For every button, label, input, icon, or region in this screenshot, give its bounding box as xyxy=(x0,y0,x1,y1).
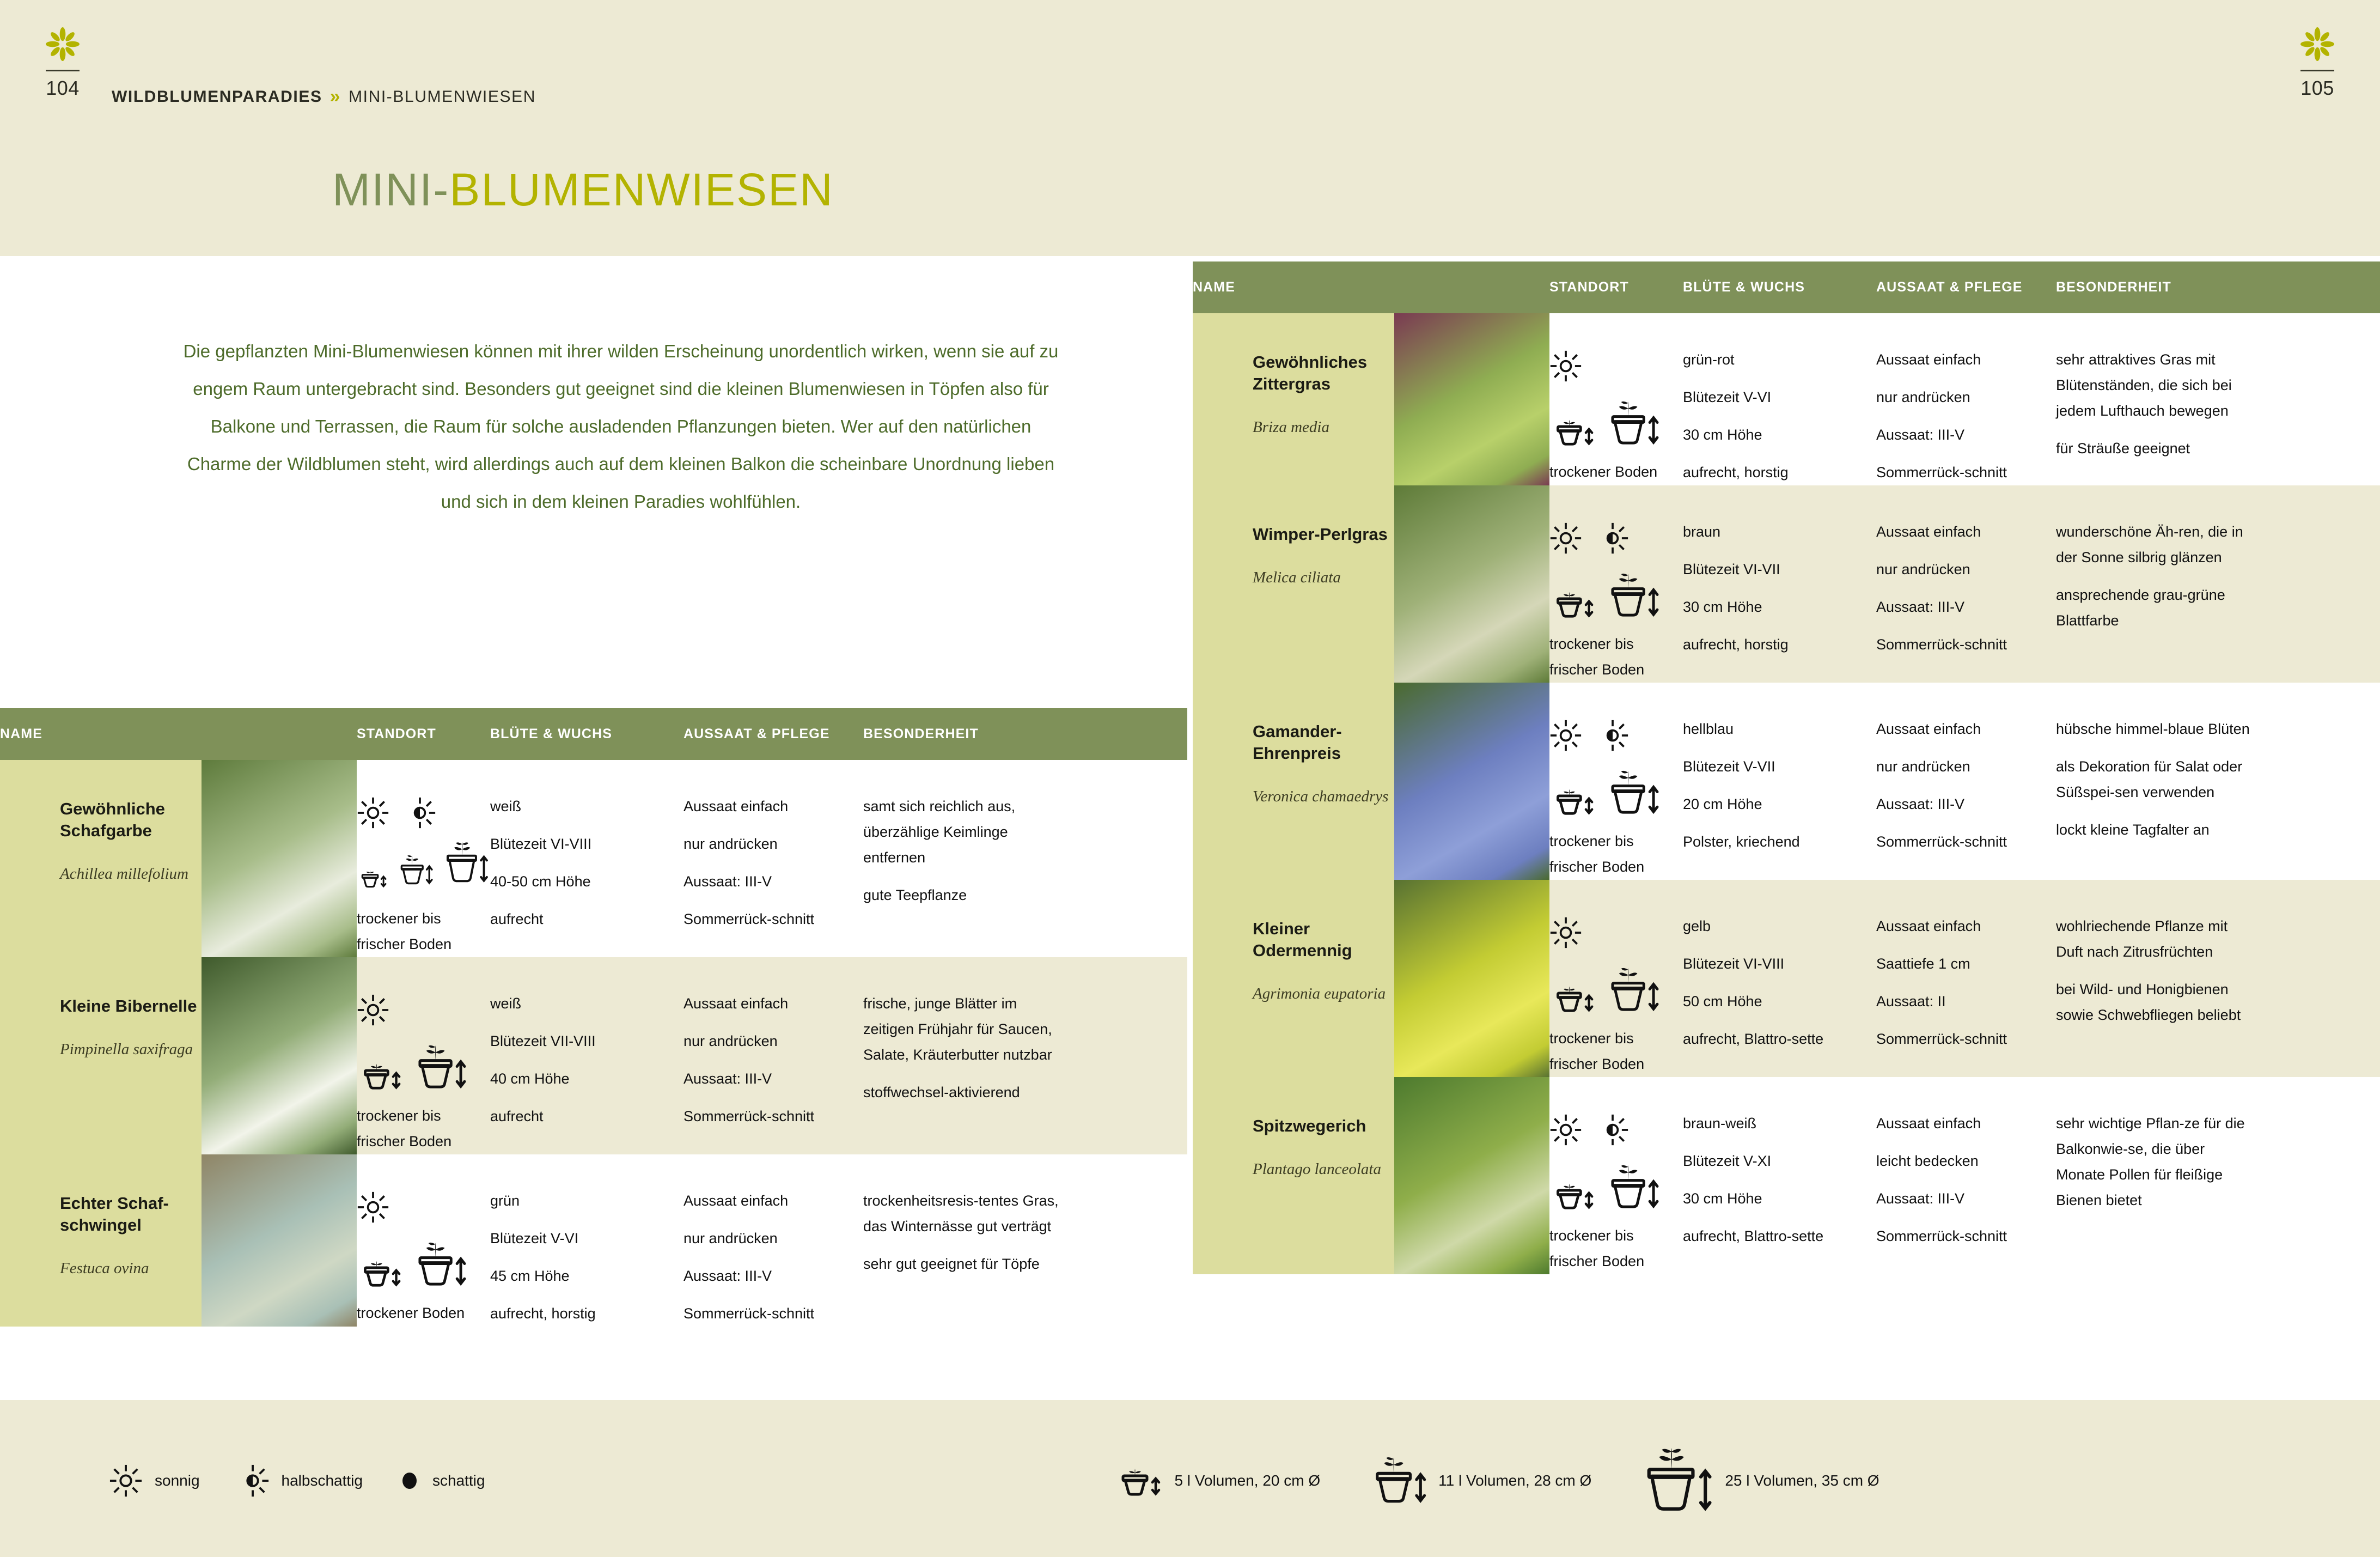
pot-medium-icon xyxy=(1605,572,1661,619)
page-title: MINI-BLUMENWIESEN xyxy=(332,163,834,216)
sun-full-icon xyxy=(357,994,389,1026)
pot-size-icons xyxy=(1549,567,1683,619)
legend-label: halbschattig xyxy=(282,1472,363,1489)
aussaat-line: nur andrücken xyxy=(684,1029,863,1054)
page-title-part1: MINI- xyxy=(332,164,449,215)
bluete-line: 30 cm Höhe xyxy=(1683,594,1876,620)
besonderheit-line: bei Wild- und Honigbienen sowie Schwebfl… xyxy=(2056,977,2252,1028)
soil-text: trockener Boden xyxy=(1549,459,1683,485)
pot-large-icon xyxy=(1640,1448,1715,1513)
page-corner-left: 104 xyxy=(30,27,95,100)
bluete-line: grün-rot xyxy=(1683,347,1876,373)
legend-pot-label: 5 l Volumen, 20 cm Ø xyxy=(1174,1472,1320,1489)
legend-pot-group: 5 l Volumen, 20 cm Ø 11 l Volumen, 28 cm… xyxy=(1114,1448,1928,1513)
light-icons xyxy=(1549,1111,1683,1149)
content-sheet: Die gepflanzten Mini-Blumenwiesen können… xyxy=(0,256,2380,1400)
bluete-line: grün xyxy=(490,1188,684,1214)
besonderheit-line: gute Teepflanze xyxy=(863,883,1059,908)
legend-pot-label: 25 l Volumen, 35 cm Ø xyxy=(1725,1472,1879,1489)
pot-size-icons xyxy=(1549,962,1683,1014)
bluete-line: 50 cm Höhe xyxy=(1683,989,1876,1014)
light-icons xyxy=(357,1188,490,1226)
aussaat-line: Aussaat einfach xyxy=(1876,347,2056,373)
plant-photo xyxy=(202,760,357,957)
aussaat-line: Aussaat: II xyxy=(1876,989,2056,1014)
page-number-left: 104 xyxy=(30,77,95,100)
pot-small-icon xyxy=(357,1059,405,1091)
standort-cell: trockener Boden xyxy=(1549,313,1683,485)
bluete-line: Blütezeit VI-VIII xyxy=(1683,951,1876,977)
bluete-line: Blütezeit VI-VIII xyxy=(490,831,684,857)
legend-pot-item: 5 l Volumen, 20 cm Ø xyxy=(1114,1464,1320,1498)
aussaat-line: Aussaat: III-V xyxy=(1876,594,2056,620)
chevron-right-icon: » xyxy=(330,86,341,107)
standort-cell: trockener bis frischer Boden xyxy=(357,760,490,957)
page-title-part2: BLUMENWIESEN xyxy=(449,164,833,215)
plant-name-latin: Festuca ovina xyxy=(60,1258,202,1279)
pot-large-icon xyxy=(442,832,490,894)
bluete-cell: grünBlütezeit V-VI45 cm Höheaufrecht, ho… xyxy=(490,1154,684,1327)
soil-text: trockener Boden xyxy=(357,1300,490,1326)
corner-rule xyxy=(46,70,80,71)
plant-name-cell: Echter Schaf-schwingel Festuca ovina xyxy=(0,1154,357,1327)
pot-medium-icon xyxy=(1369,1456,1429,1506)
bluete-line: weiß xyxy=(490,991,684,1017)
table-row: Gewöhnliches Zittergras Briza media xyxy=(1193,313,2380,485)
soil-text: trockener bis frischer Boden xyxy=(1549,1026,1683,1077)
pot-size-icons xyxy=(357,1236,490,1288)
column-header-bluete: BLÜTE & WUCHS xyxy=(1683,279,1876,295)
plant-name-block: Gamander-Ehrenpreis Veronica chamaedrys xyxy=(1193,683,1394,880)
besonderheit-cell: samt sich reichlich aus, überzählige Kei… xyxy=(863,760,1081,957)
legend-pot-item: 25 l Volumen, 35 cm Ø xyxy=(1640,1448,1879,1513)
aussaat-line: Aussaat: III-V xyxy=(1876,792,2056,817)
aussaat-line: nur andrücken xyxy=(684,831,863,857)
aussaat-line: nur andrücken xyxy=(1876,557,2056,582)
light-icons xyxy=(1549,347,1683,385)
bluete-line: aufrecht, horstig xyxy=(490,1301,684,1327)
aussaat-cell: Aussaat einfachnur andrückenAussaat: III… xyxy=(1876,485,2056,683)
sun-full-icon xyxy=(1549,350,1582,382)
plant-photo xyxy=(202,1154,357,1327)
plant-name-german: Gamander-Ehrenpreis xyxy=(1253,721,1394,764)
aussaat-line: nur andrücken xyxy=(1876,754,2056,780)
plant-photo xyxy=(1394,313,1549,485)
bluete-line: 30 cm Höhe xyxy=(1683,422,1876,448)
soil-text: trockener bis frischer Boden xyxy=(357,906,490,957)
soil-text: trockener bis frischer Boden xyxy=(1549,829,1683,880)
pot-medium-icon xyxy=(396,847,435,894)
table-row: Echter Schaf-schwingel Festuca ovina xyxy=(0,1154,1187,1327)
table-row: Gewöhnliche Schafgarbe Achillea millefol… xyxy=(0,760,1187,957)
pot-size-icons xyxy=(1549,1159,1683,1211)
aussaat-line: Sommerrück-schnitt xyxy=(684,907,863,932)
aussaat-line: nur andrücken xyxy=(684,1226,863,1251)
legend-item: halbschattig xyxy=(236,1464,363,1498)
pot-medium-icon xyxy=(412,1241,468,1288)
plant-photo xyxy=(1394,683,1549,880)
aussaat-line: leicht bedecken xyxy=(1876,1148,2056,1174)
light-icons xyxy=(1549,914,1683,952)
pot-small-icon xyxy=(1549,587,1597,619)
plant-name-german: Kleine Bibernelle xyxy=(60,995,202,1017)
breadcrumb-section: MINI-BLUMENWIESEN xyxy=(349,88,536,106)
column-header-besonderheit: BESONDERHEIT xyxy=(863,726,1081,742)
column-header-name: NAME xyxy=(0,726,357,742)
plant-name-latin: Plantago lanceolata xyxy=(1253,1159,1394,1179)
flower-logo-icon xyxy=(46,27,80,61)
plant-name-cell: Wimper-Perlgras Melica ciliata xyxy=(1193,485,1549,683)
page-corner-right: 105 xyxy=(2285,27,2350,100)
soil-text: trockener bis frischer Boden xyxy=(1549,631,1683,683)
bluete-line: Blütezeit V-VII xyxy=(1683,754,1876,780)
pot-small-icon xyxy=(1114,1464,1164,1498)
aussaat-line: Aussaat: III-V xyxy=(684,869,863,895)
pot-small-icon xyxy=(357,1256,405,1288)
bluete-cell: braun-weißBlütezeit V-XI30 cm Höheaufrec… xyxy=(1683,1077,1876,1274)
plant-name-latin: Melica ciliata xyxy=(1253,567,1394,588)
bluete-line: Blütezeit V-VI xyxy=(490,1226,684,1251)
bluete-line: Polster, kriechend xyxy=(1683,829,1876,855)
bluete-line: braun xyxy=(1683,519,1876,545)
breadcrumb-chapter: WILDBLUMENPARADIES xyxy=(112,88,322,106)
aussaat-line: Sommerrück-schnitt xyxy=(1876,1026,2056,1052)
aussaat-line: Saattiefe 1 cm xyxy=(1876,951,2056,977)
plant-name-block: Kleiner Odermennig Agrimonia eupatoria xyxy=(1193,880,1394,1077)
light-icons xyxy=(1549,716,1683,755)
sun-full-icon xyxy=(357,1191,389,1224)
legend-pot-item: 11 l Volumen, 28 cm Ø xyxy=(1369,1456,1591,1506)
plant-name-cell: Gewöhnliches Zittergras Briza media xyxy=(1193,313,1549,485)
plant-name-german: Kleiner Odermennig xyxy=(1253,918,1394,962)
plant-name-cell: Spitzwegerich Plantago lanceolata xyxy=(1193,1077,1549,1274)
aussaat-line: nur andrücken xyxy=(1876,385,2056,410)
bluete-line: aufrecht, horstig xyxy=(1683,632,1876,658)
bluete-line: gelb xyxy=(1683,914,1876,939)
plant-name-cell: Kleine Bibernelle Pimpinella saxifraga xyxy=(0,957,357,1154)
legend-pot-label: 11 l Volumen, 28 cm Ø xyxy=(1438,1472,1591,1489)
aussaat-line: Sommerrück-schnitt xyxy=(684,1104,863,1129)
plant-photo xyxy=(1394,485,1549,683)
pot-small-icon xyxy=(1549,415,1597,447)
sun-full-icon xyxy=(1549,1114,1582,1146)
besonderheit-line: als Dekoration für Salat oder Süßspei-se… xyxy=(2056,754,2252,805)
besonderheit-line: sehr wichtige Pflan-ze für die Balkonwie… xyxy=(2056,1111,2252,1213)
besonderheit-cell: wunderschöne Äh-ren, die in der Sonne si… xyxy=(2056,485,2274,683)
pot-medium-icon xyxy=(1605,400,1661,447)
sun-half-icon xyxy=(1596,522,1629,555)
plant-name-block: Gewöhnliche Schafgarbe Achillea millefol… xyxy=(0,760,202,957)
legend-item: schattig xyxy=(399,1470,485,1492)
light-icons xyxy=(357,991,490,1029)
plant-name-block: Kleine Bibernelle Pimpinella saxifraga xyxy=(0,957,202,1154)
bluete-line: Blütezeit VI-VII xyxy=(1683,557,1876,582)
sun-half-icon xyxy=(236,1464,270,1498)
bluete-line: braun-weiß xyxy=(1683,1111,1876,1136)
column-header-standort: STANDORT xyxy=(1549,279,1683,295)
standort-cell: trockener bis frischer Boden xyxy=(357,957,490,1154)
aussaat-cell: Aussaat einfachSaattiefe 1 cmAussaat: II… xyxy=(1876,880,2056,1077)
besonderheit-line: stoffwechsel-aktivierend xyxy=(863,1080,1059,1105)
plant-name-cell: Kleiner Odermennig Agrimonia eupatoria xyxy=(1193,880,1549,1077)
page-header-band: 104 105 WILDBLUMENPARADIES » MINI-BLUMEN… xyxy=(0,0,2380,256)
plant-table-left: NAME STANDORT BLÜTE & WUCHS AUSSAAT & PF… xyxy=(0,708,1187,1327)
legend-label: sonnig xyxy=(155,1472,200,1489)
pot-medium-icon xyxy=(412,1044,468,1091)
besonderheit-line: frische, junge Blätter im zeitigen Frühj… xyxy=(863,991,1059,1068)
besonderheit-line: lockt kleine Tagfalter an xyxy=(2056,817,2252,843)
besonderheit-line: für Sträuße geeignet xyxy=(2056,436,2252,461)
pot-small-icon xyxy=(357,862,389,894)
aussaat-cell: Aussaat einfachnur andrückenAussaat: III… xyxy=(1876,313,2056,485)
plant-table-right: NAME STANDORT BLÜTE & WUCHS AUSSAAT & PF… xyxy=(1193,261,2380,1274)
standort-cell: trockener bis frischer Boden xyxy=(1549,485,1683,683)
plant-name-cell: Gewöhnliche Schafgarbe Achillea millefol… xyxy=(0,760,357,957)
aussaat-line: Sommerrück-schnitt xyxy=(1876,829,2056,855)
table-header-row: NAME STANDORT BLÜTE & WUCHS AUSSAAT & PF… xyxy=(0,708,1187,760)
pot-size-icons xyxy=(357,1039,490,1091)
pot-size-icons xyxy=(357,842,490,894)
plant-name-german: Gewöhnliche Schafgarbe xyxy=(60,798,202,842)
bluete-cell: braunBlütezeit VI-VII30 cm Höheaufrecht,… xyxy=(1683,485,1876,683)
bluete-cell: weißBlütezeit VII-VIII40 cm Höheaufrecht xyxy=(490,957,684,1154)
standort-cell: trockener bis frischer Boden xyxy=(1549,880,1683,1077)
plant-name-cell: Gamander-Ehrenpreis Veronica chamaedrys xyxy=(1193,683,1549,880)
standort-cell: trockener bis frischer Boden xyxy=(1549,683,1683,880)
besonderheit-line: sehr attraktives Gras mit Blütenständen,… xyxy=(2056,347,2252,424)
standort-cell: trockener Boden xyxy=(357,1154,490,1327)
pot-size-icons xyxy=(1549,764,1683,817)
besonderheit-cell: hübsche himmel-blaue Blütenals Dekoratio… xyxy=(2056,683,2274,880)
bluete-line: Blütezeit V-VI xyxy=(1683,385,1876,410)
shade-dot-icon xyxy=(399,1470,420,1492)
bluete-line: 30 cm Höhe xyxy=(1683,1186,1876,1212)
sun-full-icon xyxy=(1549,522,1582,555)
plant-name-block: Echter Schaf-schwingel Festuca ovina xyxy=(0,1154,202,1327)
besonderheit-line: trockenheitsresis-tentes Gras, das Winte… xyxy=(863,1188,1059,1239)
bluete-line: Blütezeit V-XI xyxy=(1683,1148,1876,1174)
column-header-aussaat: AUSSAAT & PFLEGE xyxy=(1876,279,2056,295)
plant-name-latin: Achillea millefolium xyxy=(60,863,202,884)
bluete-cell: gelbBlütezeit VI-VIII50 cm Höheaufrecht,… xyxy=(1683,880,1876,1077)
legend-band: sonnig halbschattig schattig xyxy=(0,1400,2380,1557)
sun-full-icon xyxy=(1549,916,1582,949)
besonderheit-cell: trockenheitsresis-tentes Gras, das Winte… xyxy=(863,1154,1081,1327)
besonderheit-line: sehr gut geeignet für Töpfe xyxy=(863,1251,1059,1277)
bluete-line: hellblau xyxy=(1683,716,1876,742)
plant-photo xyxy=(202,957,357,1154)
light-icons xyxy=(1549,519,1683,557)
legend-label: schattig xyxy=(432,1472,485,1489)
corner-rule xyxy=(2300,70,2334,71)
sun-full-icon xyxy=(357,796,389,829)
aussaat-line: Sommerrück-schnitt xyxy=(1876,460,2056,485)
aussaat-cell: Aussaat einfachleicht bedeckenAussaat: I… xyxy=(1876,1077,2056,1274)
flower-logo-icon xyxy=(2300,27,2334,61)
aussaat-line: Aussaat einfach xyxy=(1876,716,2056,742)
plant-name-german: Wimper-Perlgras xyxy=(1253,524,1394,545)
sun-full-icon xyxy=(1549,719,1582,752)
pot-medium-icon xyxy=(1605,769,1661,817)
bluete-line: aufrecht xyxy=(490,1104,684,1129)
pot-size-icons xyxy=(1549,395,1683,447)
table-header-row: NAME STANDORT BLÜTE & WUCHS AUSSAAT & PF… xyxy=(1193,261,2380,313)
besonderheit-cell: sehr wichtige Pflan-ze für die Balkonwie… xyxy=(2056,1077,2274,1274)
bluete-line: Blütezeit VII-VIII xyxy=(490,1029,684,1054)
besonderheit-cell: sehr attraktives Gras mit Blütenständen,… xyxy=(2056,313,2274,485)
bluete-line: aufrecht, Blattro-sette xyxy=(1683,1224,1876,1249)
aussaat-line: Aussaat: III-V xyxy=(1876,422,2056,448)
besonderheit-line: ansprechende grau-grüne Blattfarbe xyxy=(2056,582,2252,634)
plant-name-latin: Pimpinella saxifraga xyxy=(60,1039,202,1060)
breadcrumb: WILDBLUMENPARADIES » MINI-BLUMENWIESEN xyxy=(112,86,536,107)
table-row: Kleine Bibernelle Pimpinella saxifraga xyxy=(0,957,1187,1154)
column-header-standort: STANDORT xyxy=(357,726,490,742)
plant-name-latin: Briza media xyxy=(1253,417,1394,437)
table-row: Gamander-Ehrenpreis Veronica chamaedrys xyxy=(1193,683,2380,880)
bluete-cell: weißBlütezeit VI-VIII40-50 cm Höheaufrec… xyxy=(490,760,684,957)
aussaat-line: Aussaat einfach xyxy=(1876,1111,2056,1136)
page-number-right: 105 xyxy=(2285,77,2350,100)
legend-item: sonnig xyxy=(109,1464,200,1498)
plant-name-german: Echter Schaf-schwingel xyxy=(60,1193,202,1236)
sun-half-icon xyxy=(1596,719,1629,752)
soil-text: trockener bis frischer Boden xyxy=(357,1103,490,1154)
bluete-line: aufrecht, horstig xyxy=(1683,460,1876,485)
bluete-cell: hellblauBlütezeit V-VII20 cm HöhePolster… xyxy=(1683,683,1876,880)
pot-small-icon xyxy=(1549,982,1597,1014)
aussaat-cell: Aussaat einfachnur andrückenAussaat: III… xyxy=(684,957,863,1154)
aussaat-line: Aussaat: III-V xyxy=(684,1263,863,1289)
aussaat-line: Sommerrück-schnitt xyxy=(1876,1224,2056,1249)
besonderheit-line: hübsche himmel-blaue Blüten xyxy=(2056,716,2252,742)
aussaat-line: Aussaat einfach xyxy=(684,794,863,819)
besonderheit-cell: wohlriechende Pflanze mit Duft nach Zitr… xyxy=(2056,880,2274,1077)
aussaat-line: Aussaat einfach xyxy=(1876,914,2056,939)
soil-text: trockener bis frischer Boden xyxy=(1549,1223,1683,1274)
intro-paragraph: Die gepflanzten Mini-Blumenwiesen können… xyxy=(180,332,1062,520)
pot-medium-icon xyxy=(1605,966,1661,1014)
bluete-cell: grün-rotBlütezeit V-VI30 cm Höheaufrecht… xyxy=(1683,313,1876,485)
column-header-bluete: BLÜTE & WUCHS xyxy=(490,726,684,742)
besonderheit-line: samt sich reichlich aus, überzählige Kei… xyxy=(863,794,1059,871)
plant-name-latin: Agrimonia eupatoria xyxy=(1253,983,1394,1004)
aussaat-cell: Aussaat einfachnur andrückenAussaat: III… xyxy=(1876,683,2056,880)
bluete-line: 20 cm Höhe xyxy=(1683,792,1876,817)
plant-photo xyxy=(1394,1077,1549,1274)
column-header-besonderheit: BESONDERHEIT xyxy=(2056,279,2274,295)
plant-name-block: Spitzwegerich Plantago lanceolata xyxy=(1193,1077,1394,1274)
besonderheit-line: wunderschöne Äh-ren, die in der Sonne si… xyxy=(2056,519,2252,570)
aussaat-line: Aussaat: III-V xyxy=(1876,1186,2056,1212)
plant-name-block: Gewöhnliches Zittergras Briza media xyxy=(1193,313,1394,485)
bluete-line: aufrecht xyxy=(490,907,684,932)
legend-light-group: sonnig halbschattig schattig xyxy=(109,1464,521,1498)
plant-photo xyxy=(1394,880,1549,1077)
bluete-line: 40-50 cm Höhe xyxy=(490,869,684,895)
aussaat-cell: Aussaat einfachnur andrückenAussaat: III… xyxy=(684,760,863,957)
besonderheit-cell: frische, junge Blätter im zeitigen Frühj… xyxy=(863,957,1081,1154)
plant-name-block: Wimper-Perlgras Melica ciliata xyxy=(1193,485,1394,683)
bluete-line: 45 cm Höhe xyxy=(490,1263,684,1289)
aussaat-line: Aussaat einfach xyxy=(1876,519,2056,545)
sun-full-icon xyxy=(109,1464,143,1498)
aussaat-line: Aussaat einfach xyxy=(684,991,863,1017)
table-row: Kleiner Odermennig Agrimonia eupatoria xyxy=(1193,880,2380,1077)
table-row: Spitzwegerich Plantago lanceolata xyxy=(1193,1077,2380,1274)
pot-medium-icon xyxy=(1605,1164,1661,1211)
standort-cell: trockener bis frischer Boden xyxy=(1549,1077,1683,1274)
plant-name-german: Spitzwegerich xyxy=(1253,1115,1394,1137)
aussaat-cell: Aussaat einfachnur andrückenAussaat: III… xyxy=(684,1154,863,1327)
bluete-line: weiß xyxy=(490,794,684,819)
bluete-line: aufrecht, Blattro-sette xyxy=(1683,1026,1876,1052)
besonderheit-line: wohlriechende Pflanze mit Duft nach Zitr… xyxy=(2056,914,2252,965)
column-header-name: NAME xyxy=(1193,279,1549,295)
pot-small-icon xyxy=(1549,784,1597,817)
sun-half-icon xyxy=(404,796,436,829)
plant-name-german: Gewöhnliches Zittergras xyxy=(1253,351,1394,395)
bluete-line: 40 cm Höhe xyxy=(490,1066,684,1092)
plant-name-latin: Veronica chamaedrys xyxy=(1253,786,1394,807)
aussaat-line: Sommerrück-schnitt xyxy=(684,1301,863,1327)
light-icons xyxy=(357,794,490,832)
sun-half-icon xyxy=(1596,1114,1629,1146)
aussaat-line: Aussaat: III-V xyxy=(684,1066,863,1092)
column-header-aussaat: AUSSAAT & PFLEGE xyxy=(684,726,863,742)
aussaat-line: Sommerrück-schnitt xyxy=(1876,632,2056,658)
aussaat-line: Aussaat einfach xyxy=(684,1188,863,1214)
table-row: Wimper-Perlgras Melica ciliata xyxy=(1193,485,2380,683)
pot-small-icon xyxy=(1549,1179,1597,1211)
